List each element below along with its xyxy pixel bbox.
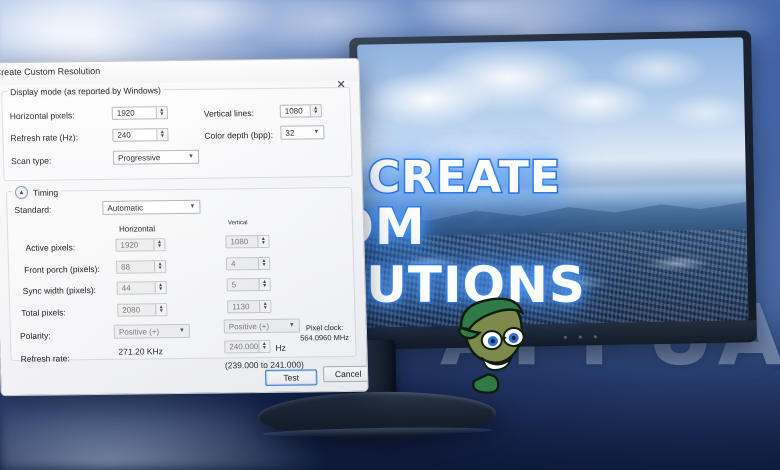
spinner-arrows-icon[interactable]: ▲▼: [156, 107, 167, 118]
screenshot-stage: APPUALS CREATE CUSTOM RESOLUTIONS: [0, 0, 780, 470]
spinner-arrows-icon[interactable]: ▲▼: [156, 129, 167, 140]
polarity-vertical-value: Positive (+): [225, 321, 285, 331]
standard-label: Standard:: [14, 205, 51, 215]
spinner-arrows-icon[interactable]: ▲▼: [310, 105, 321, 116]
spinner-arrows-icon[interactable]: ▲▼: [155, 304, 166, 315]
polarity-horizontal-select[interactable]: Positive (+) ▼: [114, 324, 190, 339]
cancel-button[interactable]: Cancel: [323, 366, 369, 383]
active-pixels-label: Active pixels:: [25, 242, 75, 253]
horizontal-pixels-label: Horizontal pixels:: [10, 110, 75, 121]
front-porch-horizontal-value: 88: [117, 262, 154, 271]
timing-refresh-rate-horizontal-value: 271.20 KHz: [118, 346, 163, 357]
polarity-horizontal-value: Positive (+): [115, 327, 175, 337]
front-porch-horizontal-stepper[interactable]: 88 ▲▼: [116, 260, 166, 274]
color-depth-label: Color depth (bpp):: [204, 130, 273, 141]
color-depth-select[interactable]: 32 ▼: [280, 125, 324, 140]
sync-width-vertical-stepper[interactable]: 5 ▲▼: [226, 278, 270, 292]
color-depth-value: 32: [281, 128, 309, 137]
scan-type-select[interactable]: Progressive ▼: [113, 150, 199, 165]
standard-select[interactable]: Automatic ▼: [102, 200, 200, 215]
polarity-label: Polarity:: [20, 331, 51, 341]
sync-width-horizontal-stepper[interactable]: 44 ▲▼: [117, 281, 167, 295]
vertical-lines-value: 1080: [281, 106, 310, 115]
monitor-bezel: [349, 30, 757, 350]
wallpaper-field: [361, 230, 749, 328]
total-pixels-label: Total pixels:: [21, 307, 66, 318]
spinner-arrows-icon[interactable]: ▲▼: [259, 301, 270, 312]
spinner-arrows-icon[interactable]: ▲▼: [258, 279, 269, 290]
chevron-down-icon[interactable]: ▼: [309, 129, 323, 135]
sync-width-vertical-value: 5: [228, 280, 259, 289]
create-custom-resolution-dialog[interactable]: Create Custom Resolution ✕ Display mode …: [0, 58, 369, 396]
vertical-lines-stepper[interactable]: 1080 ▲▼: [280, 104, 322, 118]
front-porch-vertical-value: 4: [227, 259, 258, 268]
monitor-indicator-dots: [564, 335, 597, 339]
spinner-arrows-icon[interactable]: ▲▼: [257, 236, 268, 247]
appuals-mascot: [449, 290, 540, 398]
refresh-rate-hz-label: Refresh rate (Hz):: [10, 132, 78, 143]
horizontal-pixels-stepper[interactable]: 1920 ▲▼: [112, 106, 168, 120]
wallpaper-clouds: [357, 37, 746, 203]
spinner-arrows-icon[interactable]: ▲▼: [155, 282, 166, 293]
monitor-screen: [357, 37, 748, 327]
active-pixels-vertical-value: 1080: [226, 237, 257, 246]
scan-type-value: Progressive: [114, 152, 184, 162]
dialog-title: Create Custom Resolution: [0, 66, 100, 77]
active-pixels-vertical-stepper[interactable]: 1080 ▲▼: [225, 235, 269, 249]
total-pixels-horizontal-value: 2080: [118, 305, 155, 314]
spinner-arrows-icon[interactable]: ▲▼: [258, 258, 269, 269]
refresh-rate-hz-value: 240: [113, 130, 156, 140]
timing-group-label: Timing: [33, 187, 58, 197]
chevron-down-icon[interactable]: ▼: [184, 154, 198, 160]
timing-group-header[interactable]: ▲ Timing: [12, 185, 62, 199]
spinner-arrows-icon[interactable]: ▲▼: [153, 239, 164, 250]
monitor-graphic: [349, 30, 757, 350]
chevron-down-icon[interactable]: ▼: [185, 204, 199, 210]
active-pixels-horizontal-stepper[interactable]: 1920 ▲▼: [115, 238, 165, 252]
total-pixels-vertical-stepper[interactable]: 1130 ▲▼: [227, 300, 271, 314]
chevron-up-icon[interactable]: ▲: [15, 186, 28, 199]
timing-refresh-rate-vertical-stepper[interactable]: 240.000 ▲▼: [224, 340, 270, 354]
timing-refresh-rate-vertical-value: 240.000: [225, 342, 258, 351]
sync-width-label: Sync width (pixels):: [23, 285, 97, 296]
pixel-clock-value: 564.0960 MHz: [300, 333, 349, 343]
horizontal-pixels-value: 1920: [113, 108, 156, 118]
pixel-clock-label: Pixel clock:: [306, 323, 344, 332]
chevron-down-icon[interactable]: ▼: [285, 323, 299, 329]
spinner-arrows-icon[interactable]: ▲▼: [258, 341, 269, 352]
total-pixels-vertical-value: 1130: [228, 302, 259, 311]
column-header-vertical: Vertical: [228, 220, 248, 226]
vertical-lines-label: Vertical lines:: [204, 108, 254, 119]
scan-type-label: Scan type:: [11, 156, 51, 166]
test-button[interactable]: Test: [265, 369, 317, 386]
column-header-horizontal: Horizontal: [119, 224, 155, 233]
chevron-down-icon[interactable]: ▼: [175, 328, 189, 334]
front-porch-vertical-stepper[interactable]: 4 ▲▼: [226, 257, 270, 271]
front-porch-label: Front porch (pixels):: [24, 264, 100, 275]
refresh-rate-hz-stepper[interactable]: 240 ▲▼: [112, 128, 168, 142]
timing-refresh-rate-label: Refresh rate:: [20, 353, 69, 364]
polarity-vertical-select[interactable]: Positive (+) ▼: [224, 319, 300, 334]
active-pixels-horizontal-value: 1920: [116, 240, 153, 249]
spinner-arrows-icon[interactable]: ▲▼: [154, 261, 165, 272]
total-pixels-horizontal-stepper[interactable]: 2080 ▲▼: [117, 303, 167, 317]
display-mode-group-label: Display mode (as reported by Windows): [7, 85, 164, 97]
dialog-title-bar: Create Custom Resolution: [0, 59, 359, 85]
standard-value: Automatic: [103, 202, 185, 212]
sync-width-horizontal-value: 44: [118, 283, 155, 292]
refresh-unit-label: Hz: [275, 343, 286, 353]
